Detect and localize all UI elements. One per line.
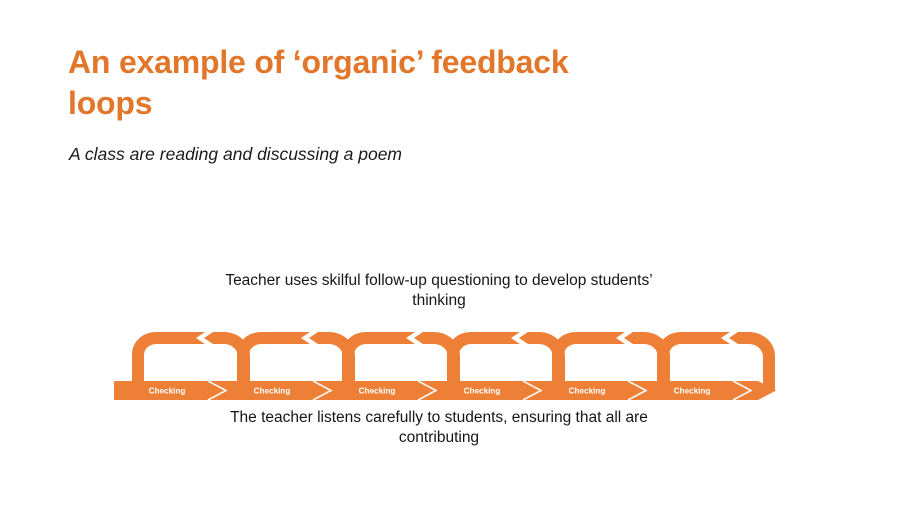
loop-label-2: Checking [254, 387, 291, 396]
loop-label-5: Checking [569, 387, 606, 396]
slide-canvas: An example of ‘organic’ feedback loops A… [0, 0, 902, 507]
page-title: An example of ‘organic’ feedback loops [68, 42, 628, 124]
loop-label-1: Checking [149, 387, 186, 396]
feedback-loop-diagram: Checking Checking Checking Checking Chec… [106, 322, 796, 412]
diagram-caption-above: Teacher uses skilful follow-up questioni… [214, 271, 664, 311]
loop-label-6: Checking [674, 387, 711, 396]
diagram-caption-below: The teacher listens carefully to student… [214, 408, 664, 448]
feedback-loop-svg: Checking Checking Checking Checking Chec… [106, 322, 796, 412]
loop-label-4: Checking [464, 387, 501, 396]
slide-subtitle: A class are reading and discussing a poe… [69, 143, 489, 166]
loop-label-3: Checking [359, 387, 396, 396]
